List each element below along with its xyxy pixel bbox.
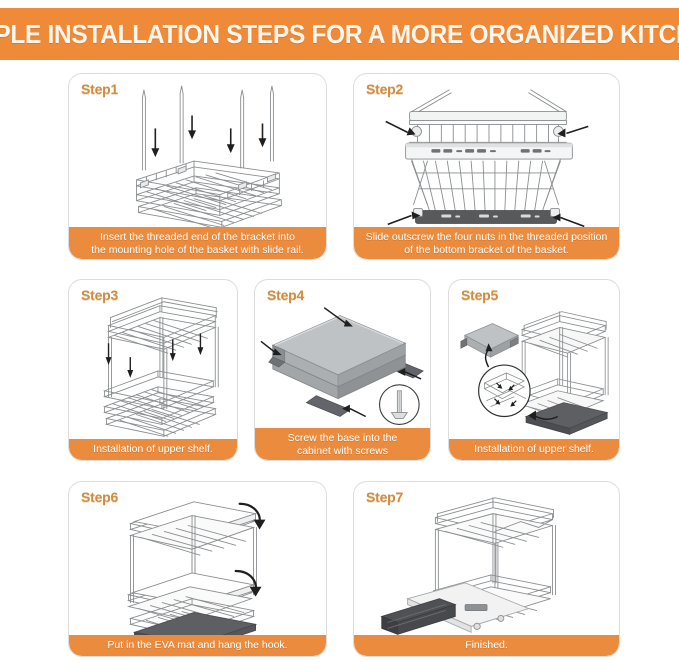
step-label-step1: Step1: [81, 81, 118, 97]
caption-line-1: Slide outscrew the four nuts in the thre…: [360, 231, 613, 244]
step-card-step1: Step1 Insert the threaded end of the bra…: [68, 73, 327, 260]
caption-line-1: Installation of upper shelf.: [75, 443, 231, 456]
step-caption-step3: Installation of upper shelf.: [69, 439, 237, 460]
step-label-step7: Step7: [366, 489, 403, 505]
step-caption-step2: Slide outscrew the four nuts in the thre…: [354, 227, 619, 259]
caption-line-1: Screw the base into the: [261, 432, 424, 445]
caption-line-1: Put in the EVA mat and hang the hook.: [75, 639, 320, 652]
step-caption-step6: Put in the EVA mat and hang the hook.: [69, 635, 326, 656]
step-caption-step5: Installation of upper shelf.: [449, 439, 619, 460]
step-caption-step7: Finished.: [354, 635, 619, 656]
illustration-step6: [69, 482, 326, 656]
caption-line-2: cabinet with screws: [261, 445, 424, 458]
step-label-step6: Step6: [81, 489, 118, 505]
caption-line-2: the mounting hole of the basket with sli…: [75, 244, 320, 257]
step-label-step4: Step4: [267, 287, 304, 303]
step-caption-step1: Insert the threaded end of the bracket i…: [69, 227, 326, 259]
step-caption-step4: Screw the base into the cabinet with scr…: [255, 428, 430, 460]
illustration-step3: [69, 280, 237, 460]
caption-line-1: Insert the threaded end of the bracket i…: [75, 231, 320, 244]
step-card-step5: Step5 Installation of upper shelf.: [448, 279, 620, 461]
step-label-step2: Step2: [366, 81, 403, 97]
step-label-step5: Step5: [461, 287, 498, 303]
step-card-step2: Step2 Slide outscrew the four nuts in th…: [353, 73, 620, 260]
illustration-step5: [449, 280, 619, 460]
infographic-canvas: SIMPLE INSTALLATION STEPS FOR A MORE ORG…: [0, 0, 679, 670]
caption-line-1: Finished.: [360, 639, 613, 652]
step-card-step6: Step6 Put in the EVA mat and hang the ho…: [68, 481, 327, 657]
illustration-step7: [354, 482, 619, 656]
step-label-step3: Step3: [81, 287, 118, 303]
step-card-step7: Step7 Finished.: [353, 481, 620, 657]
header-band: SIMPLE INSTALLATION STEPS FOR A MORE ORG…: [0, 8, 679, 60]
step-card-step4: Step4 Screw the base into the cabinet wi…: [254, 279, 431, 461]
caption-line-1: Installation of upper shelf.: [455, 443, 613, 456]
step-card-step3: Step3 Installation of upper shelf.: [68, 279, 238, 461]
page-title: SIMPLE INSTALLATION STEPS FOR A MORE ORG…: [0, 19, 679, 50]
caption-line-2: of the bottom bracket of the basket.: [360, 244, 613, 257]
